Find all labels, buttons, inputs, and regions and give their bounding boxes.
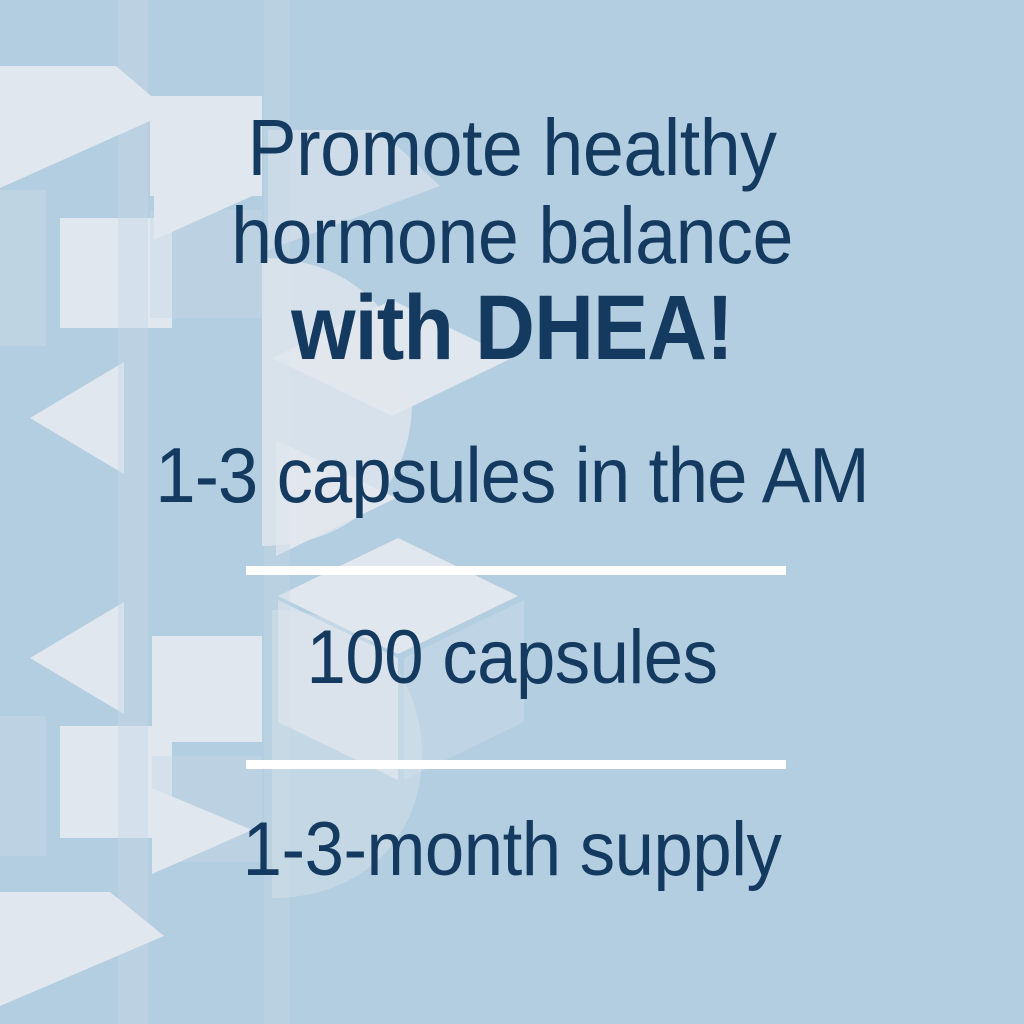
benefit-dosage: 1-3 capsules in the AM — [36, 432, 988, 518]
headline-line-1: Promote healthy — [41, 104, 983, 192]
benefit-supply-duration: 1-3-month supply — [36, 808, 988, 892]
divider-top — [246, 566, 786, 575]
card-content: Promote healthy hormone balance with DHE… — [0, 0, 1024, 1024]
headline-block: Promote healthy hormone balance with DHE… — [0, 104, 1024, 376]
benefit-capsule-count: 100 capsules — [36, 616, 988, 700]
divider-bottom — [246, 760, 786, 769]
headline-line-3-accent: with DHEA! — [51, 280, 973, 376]
headline-line-2: hormone balance — [41, 192, 983, 280]
dhea-promo-card: Promote healthy hormone balance with DHE… — [0, 0, 1024, 1024]
